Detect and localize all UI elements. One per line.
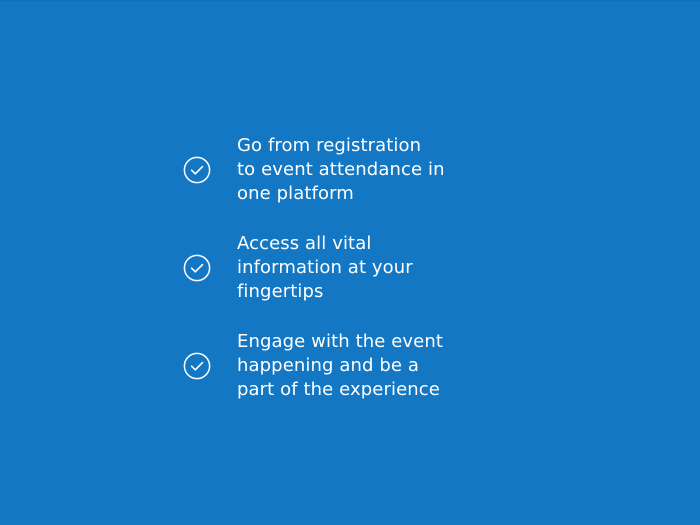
check-circle-icon [183, 156, 211, 184]
benefits-list: Go from registration to event attendance… [183, 134, 483, 402]
check-circle-icon [183, 254, 211, 282]
list-item: Go from registration to event attendance… [183, 134, 483, 206]
list-item: Engage with the event happening and be a… [183, 330, 483, 402]
list-item-label: Access all vital information at your fin… [237, 232, 483, 304]
list-item-label: Go from registration to event attendance… [237, 134, 483, 206]
list-item: Access all vital information at your fin… [183, 232, 483, 304]
check-circle-icon [183, 352, 211, 380]
slide-canvas: Go from registration to event attendance… [0, 0, 700, 525]
list-item-label: Engage with the event happening and be a… [237, 330, 483, 402]
